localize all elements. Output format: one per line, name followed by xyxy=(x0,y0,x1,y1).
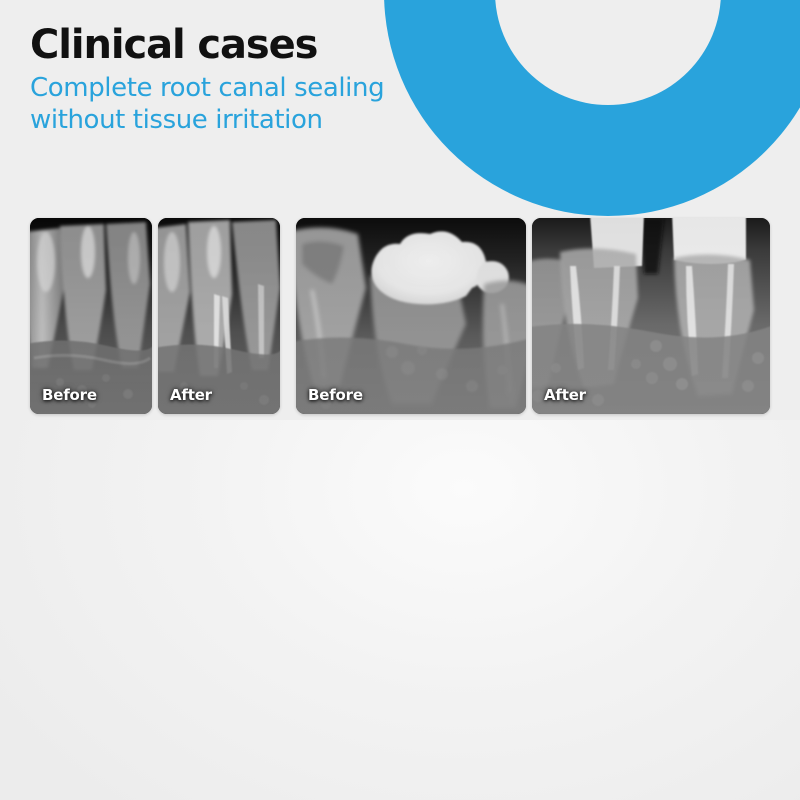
xray-label: Before xyxy=(308,386,363,404)
xray-panel-after-1[interactable]: After xyxy=(158,218,280,414)
stethoscope-and-clipboard-photo xyxy=(0,420,800,800)
xray-panel-before-2[interactable]: Before xyxy=(296,218,526,414)
xray-image-2 xyxy=(158,218,280,414)
xray-label: Before xyxy=(42,386,97,404)
page-subtitle: Complete root canal sealing without tiss… xyxy=(30,72,390,136)
xray-image-3 xyxy=(296,218,526,414)
xray-panel-before-1[interactable]: Before xyxy=(30,218,152,414)
page-title: Clinical cases xyxy=(30,22,430,68)
xray-label: After xyxy=(170,386,212,404)
poster-canvas: Clinical cases Complete root canal seali… xyxy=(0,0,800,800)
xray-image-1 xyxy=(30,218,152,414)
case-pair-two: Before xyxy=(296,218,770,414)
photo-background xyxy=(0,420,800,800)
case-pair-one: Before xyxy=(30,218,280,414)
xray-image-4 xyxy=(532,218,770,414)
xray-gallery: Before xyxy=(30,218,772,414)
xray-label: After xyxy=(544,386,586,404)
xray-panel-after-2[interactable]: After xyxy=(532,218,770,414)
header-block: Clinical cases Complete root canal seali… xyxy=(30,22,430,136)
